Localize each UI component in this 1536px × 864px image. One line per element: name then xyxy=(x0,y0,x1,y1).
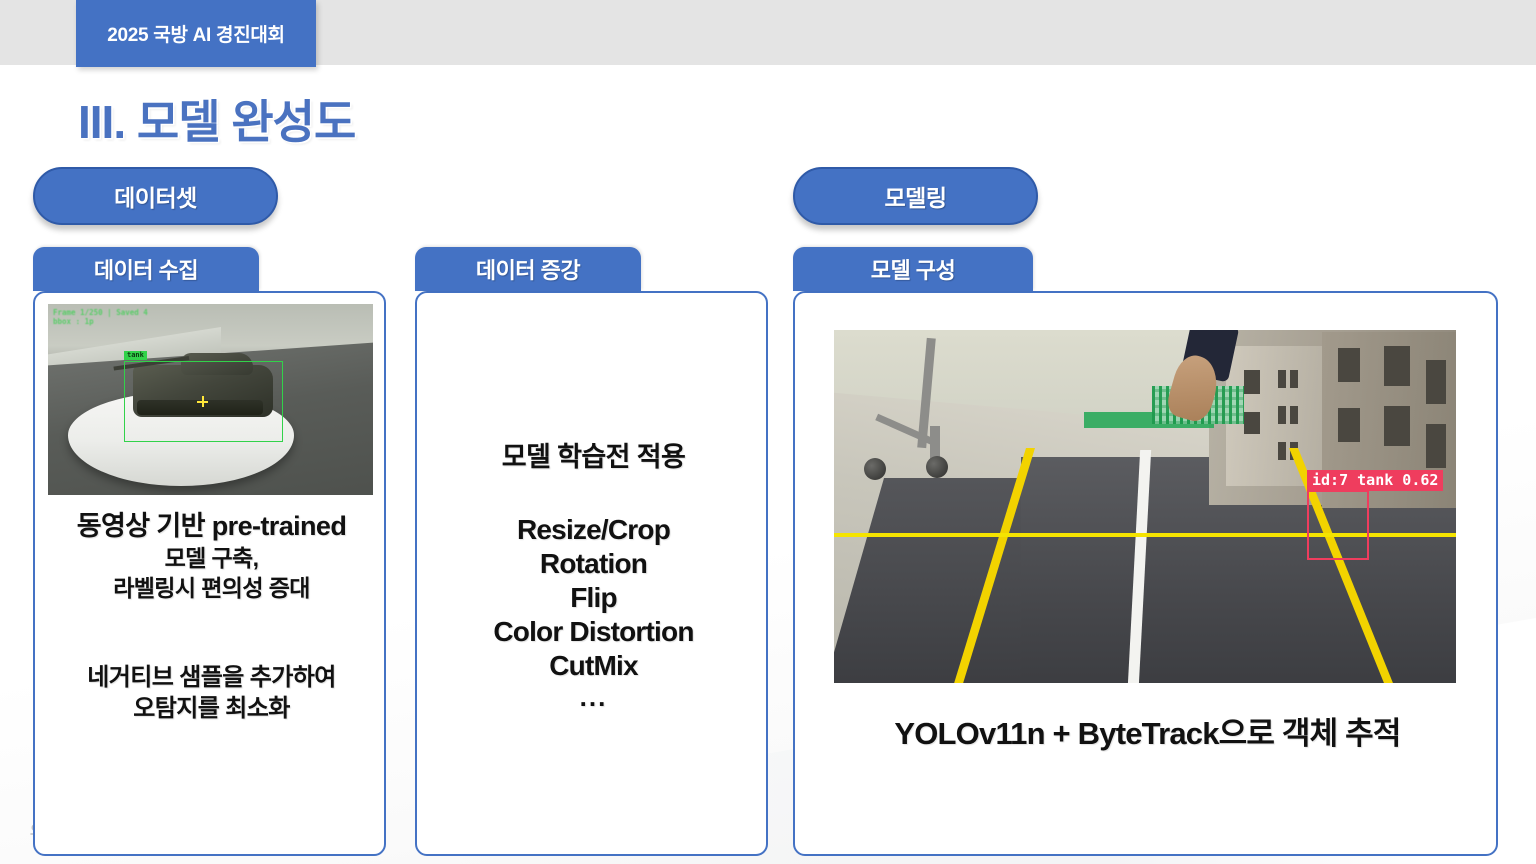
collect-line-5: 오탐지를 최소화 xyxy=(45,693,378,724)
card-tab-data-collection: 데이터 수집 xyxy=(33,247,259,291)
text-spacer xyxy=(45,604,378,662)
card-tab-label: 모델 구성 xyxy=(871,253,956,285)
augment-heading: 모델 학습전 적용 xyxy=(417,441,770,475)
collect-line-2: 모델 구축, xyxy=(45,544,378,574)
text-spacer xyxy=(417,475,770,513)
photo-overlay-text: Frame 1/250 | Saved 4 bbox : 1p xyxy=(53,308,148,327)
header-tab-label: 2025 국방 AI 경진대회 xyxy=(107,20,285,47)
building-window xyxy=(1278,406,1286,424)
building-window xyxy=(1244,370,1260,394)
augment-ellipsis: ... xyxy=(417,684,770,710)
building-window xyxy=(1384,346,1410,386)
augment-item-3: Color Distortion xyxy=(417,615,770,649)
building-window xyxy=(1384,406,1410,446)
card-tab-label: 데이터 수집 xyxy=(94,253,198,285)
building-window xyxy=(1278,370,1286,388)
augment-item-2: Flip xyxy=(417,581,770,615)
detection-label: id:7 tank 0.62 xyxy=(1307,470,1443,491)
card-body-model-composition: id:7 tank 0.62 YOLOv11n + ByteTrack으로 객체… xyxy=(793,291,1498,856)
collect-line-3: 라벨링시 편의성 증대 xyxy=(45,574,378,604)
building-window xyxy=(1290,406,1298,424)
augment-item-1: Rotation xyxy=(417,547,770,581)
augment-item-4: CutMix xyxy=(417,649,770,683)
card-data-augmentation-text: 모델 학습전 적용 Resize/Crop Rotation Flip Colo… xyxy=(417,441,770,710)
group-pill-dataset-label: 데이터셋 xyxy=(114,179,197,213)
collect-line-1: 동영상 기반 pre-trained xyxy=(45,509,378,544)
slide-canvas: 2025 국방 AI 경진대회 III. 모델 완성도 데이터셋 모델링 데이터… xyxy=(0,0,1536,864)
card-body-data-augmentation: 모델 학습전 적용 Resize/Crop Rotation Flip Colo… xyxy=(415,291,768,856)
tracking-demo-photo: id:7 tank 0.62 xyxy=(834,330,1456,683)
card-body-data-collection: tank Frame 1/250 | Saved 4 bbox : 1p 동영상… xyxy=(33,291,386,856)
group-pill-modeling-label: 모델링 xyxy=(885,179,947,213)
building-window xyxy=(1426,424,1446,468)
group-pill-dataset: 데이터셋 xyxy=(33,167,278,225)
header-tab: 2025 국방 AI 경진대회 xyxy=(76,0,316,67)
building-window xyxy=(1338,408,1360,442)
detection-bounding-box: id:7 tank 0.62 xyxy=(1307,490,1369,560)
tank-labeling-photo: tank Frame 1/250 | Saved 4 bbox : 1p xyxy=(48,304,373,495)
card-tab-model-composition: 모델 구성 xyxy=(793,247,1033,291)
building-window xyxy=(1244,412,1260,434)
model-caption: YOLOv11n + ByteTrack으로 객체 추적 xyxy=(795,708,1500,753)
card-tab-label: 데이터 증강 xyxy=(476,253,580,285)
building-window xyxy=(1426,360,1446,404)
annotation-bounding-box: tank xyxy=(124,361,283,442)
group-pill-modeling: 모델링 xyxy=(793,167,1038,225)
annotation-class-label: tank xyxy=(124,351,147,360)
crosshair-icon xyxy=(197,396,208,407)
cart-wheel xyxy=(864,458,886,480)
building-window xyxy=(1338,348,1360,382)
page-title: III. 모델 완성도 xyxy=(78,86,355,152)
collect-line-4: 네거티브 샘플을 추가하여 xyxy=(45,662,378,693)
building-window xyxy=(1290,370,1298,388)
cart-wheel xyxy=(926,456,948,478)
card-data-collection-text: 동영상 기반 pre-trained 모델 구축, 라벨링시 편의성 증대 네거… xyxy=(45,509,378,724)
building-window xyxy=(1278,442,1286,460)
card-tab-data-augmentation: 데이터 증강 xyxy=(415,247,641,291)
augment-item-0: Resize/Crop xyxy=(417,513,770,547)
